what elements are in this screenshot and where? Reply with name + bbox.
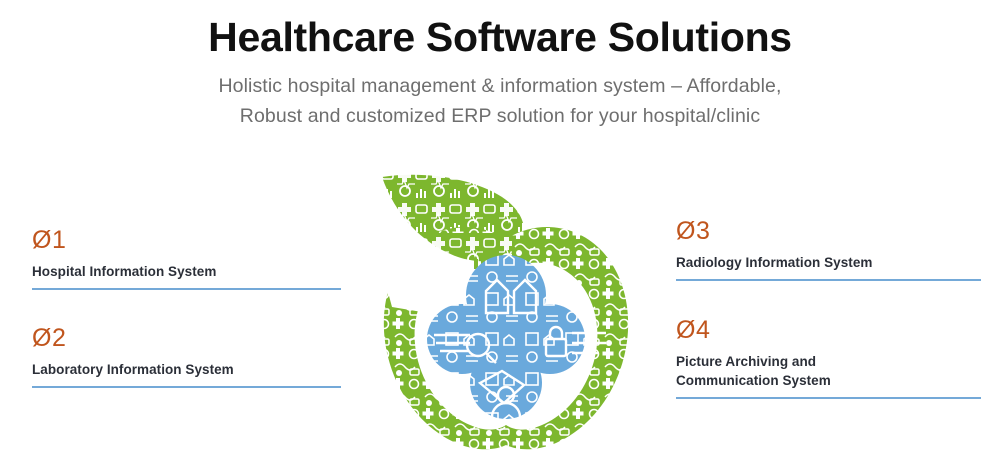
- item-number-02: Ø2: [32, 326, 341, 351]
- subtitle-line-1: Holistic hospital management & informati…: [0, 72, 1000, 102]
- list-item-01[interactable]: Ø1 Hospital Information System: [32, 228, 341, 290]
- list-item-02[interactable]: Ø2 Laboratory Information System: [32, 326, 341, 388]
- header: Healthcare Software Solutions Holistic h…: [0, 0, 1000, 132]
- subtitle-line-2: Robust and customized ERP solution for y…: [0, 102, 1000, 132]
- item-underline-04: [676, 397, 981, 399]
- item-underline-03: [676, 279, 981, 281]
- page-title: Healthcare Software Solutions: [0, 0, 1000, 61]
- item-label-04-line-1: Picture Archiving and: [676, 354, 816, 369]
- item-number-04: Ø4: [676, 318, 981, 343]
- spacer: [676, 281, 986, 318]
- left-column: Ø1 Hospital Information System Ø2 Labora…: [32, 228, 342, 388]
- item-underline-02: [32, 386, 341, 388]
- item-label-03: Radiology Information System: [676, 253, 981, 272]
- page-subtitle: Holistic hospital management & informati…: [0, 61, 1000, 131]
- list-item-03[interactable]: Ø3 Radiology Information System: [676, 219, 981, 281]
- right-column: Ø3 Radiology Information System Ø4 Pictu…: [676, 219, 986, 399]
- item-number-01: Ø1: [32, 228, 341, 253]
- item-label-04-line-2: Communication System: [676, 373, 831, 388]
- healthcare-apple-logo: [362, 167, 650, 457]
- item-label-04: Picture Archiving and Communication Syst…: [676, 352, 981, 390]
- item-label-02: Laboratory Information System: [32, 360, 341, 379]
- item-label-01: Hospital Information System: [32, 262, 341, 281]
- spacer: [32, 290, 342, 326]
- slide-canvas: Healthcare Software Solutions Holistic h…: [0, 0, 1000, 471]
- item-number-03: Ø3: [676, 219, 981, 244]
- item-underline-01: [32, 288, 341, 290]
- list-item-04[interactable]: Ø4 Picture Archiving and Communication S…: [676, 318, 981, 399]
